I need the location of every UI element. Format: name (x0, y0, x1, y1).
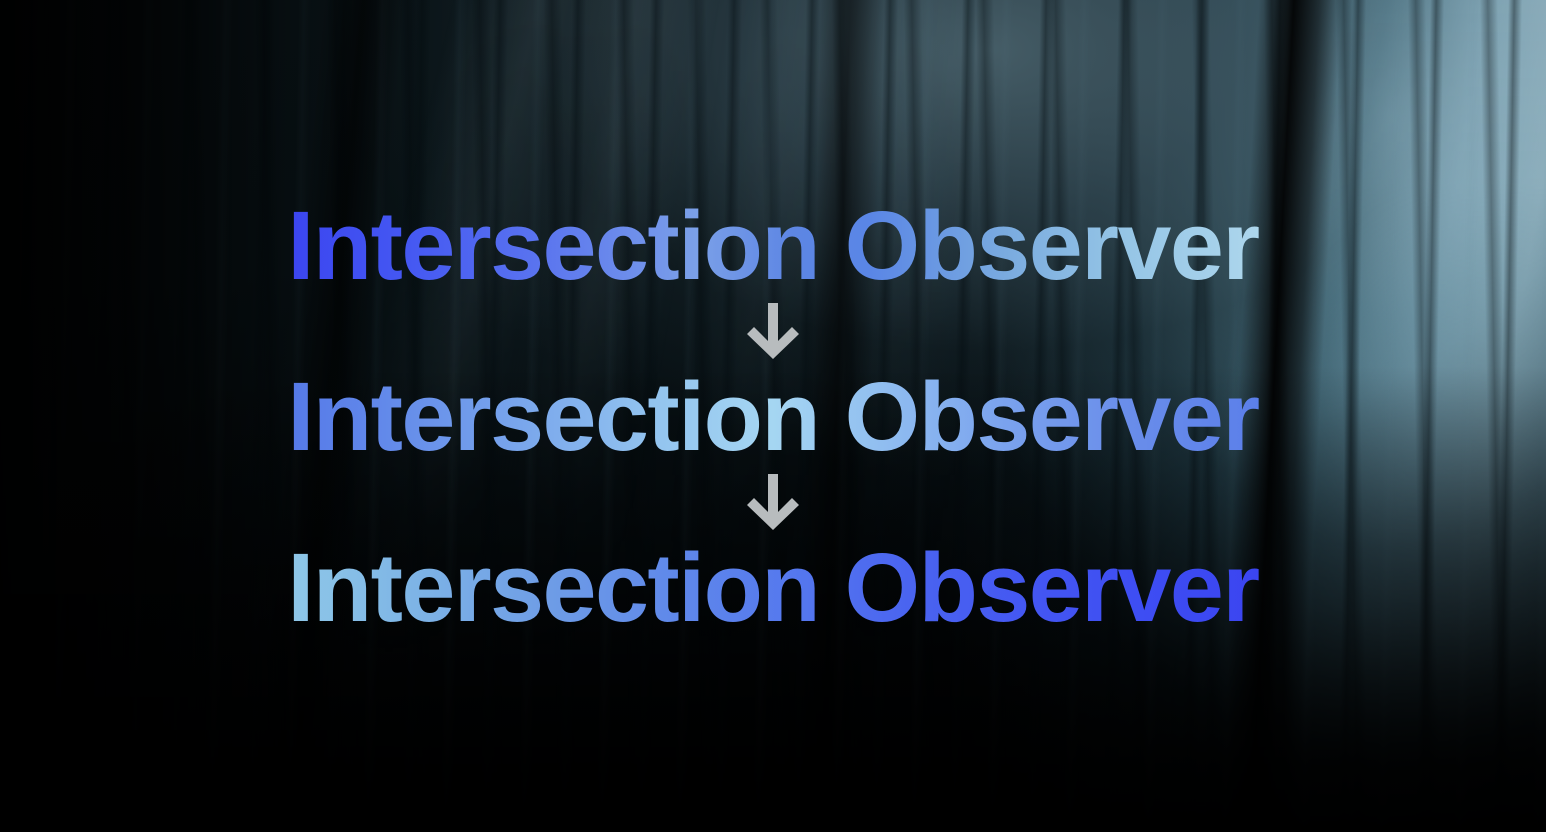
arrow-row-first (745, 298, 801, 364)
headline-first: Intersection Observer (287, 193, 1258, 298)
page-root: Intersection Observer Intersection Obser… (0, 0, 1546, 832)
headline-stack: Intersection Observer Intersection Obser… (0, 0, 1546, 832)
arrow-down-icon (745, 301, 801, 361)
headline-second: Intersection Observer (287, 364, 1258, 469)
arrow-down-icon (745, 472, 801, 532)
headline-third: Intersection Observer (287, 535, 1258, 640)
arrow-row-second (745, 469, 801, 535)
